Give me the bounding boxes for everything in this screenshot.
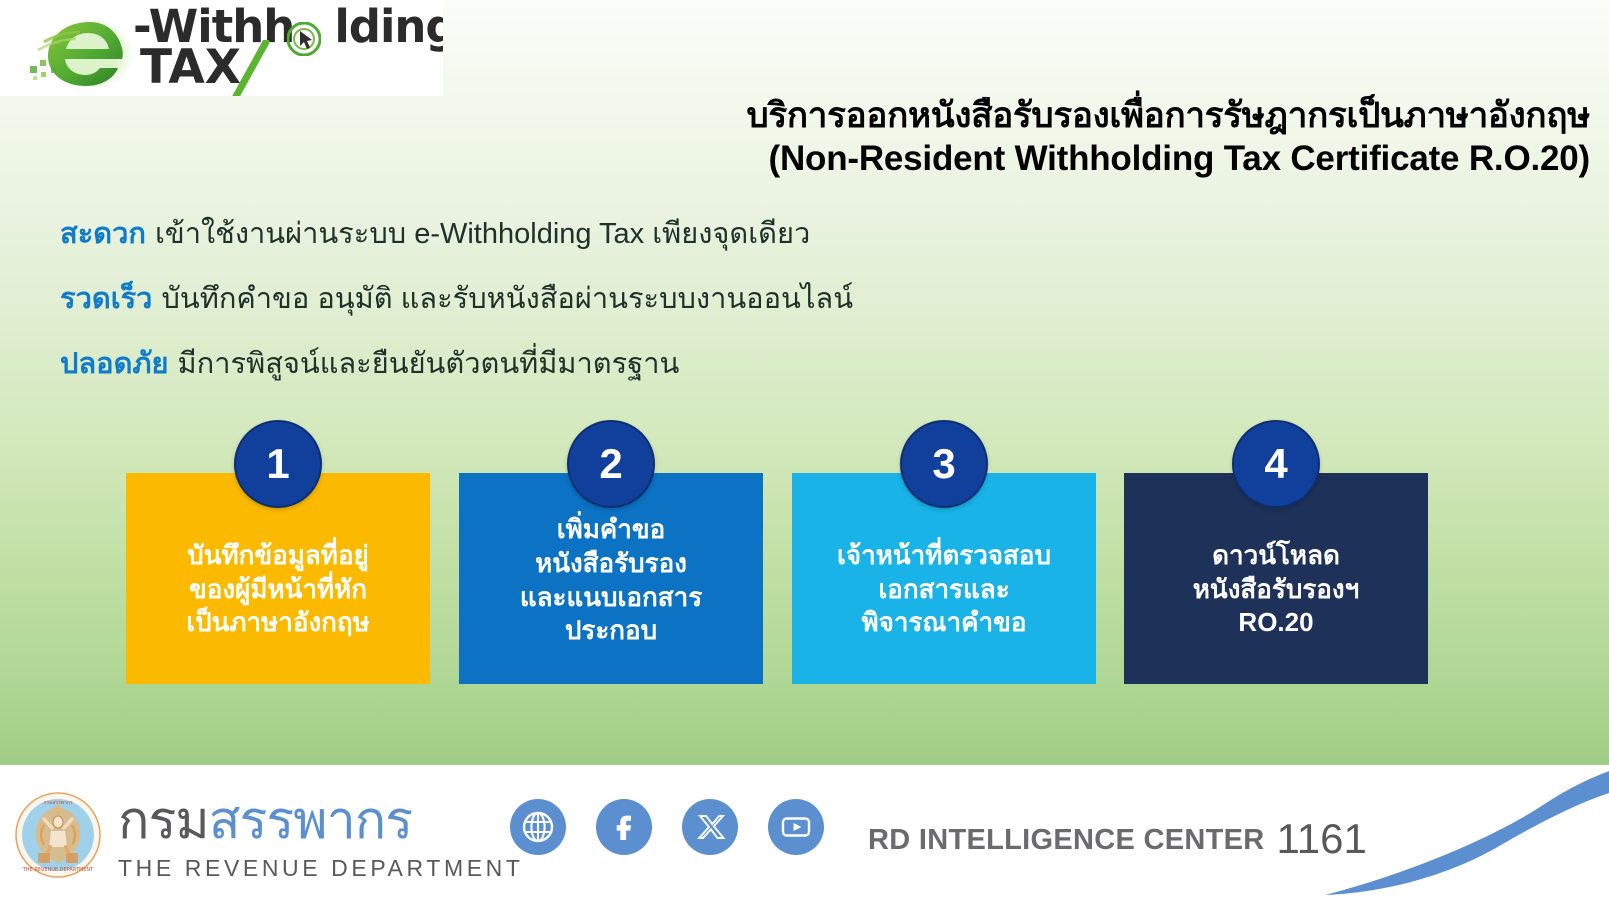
step-line: ของผู้มีหน้าที่หัก xyxy=(136,573,420,607)
benefit-item-1: สะดวกเข้าใช้งานผ่านระบบ e-Withholding Ta… xyxy=(60,216,1360,253)
step-card-2: 2 เพิ่มคำขอ หนังสือรับรอง และแนบเอกสาร ป… xyxy=(459,473,763,684)
revenue-department-seal-icon: กรมสรรพากร THE REVENUE DEPARTMENT xyxy=(14,791,102,879)
step-card-text: เจ้าหน้าที่ตรวจสอบ เอกสารและ พิจารณาคำขอ xyxy=(802,539,1086,640)
blue-swoosh-decoration xyxy=(1315,769,1609,901)
step-line: และแนบเอกสาร xyxy=(469,581,753,615)
title-thai: บริการออกหนังสือรับรองเพื่อการรัษฎากรเป็… xyxy=(400,96,1590,135)
step-line: เอกสารและ xyxy=(802,573,1086,607)
svg-text:THE REVENUE DEPARTMENT: THE REVENUE DEPARTMENT xyxy=(22,867,94,873)
step-card-text: บันทึกข้อมูลที่อยู่ ของผู้มีหน้าที่หัก เ… xyxy=(136,539,420,640)
step-line: บันทึกข้อมูลที่อยู่ xyxy=(136,539,420,573)
step-card-text: ดาวน์โหลด หนังสือรับรองฯ RO.20 xyxy=(1134,539,1418,640)
logo-lding: lding xyxy=(334,0,443,53)
facebook-icon[interactable] xyxy=(596,799,652,855)
agency-name-thai: กรมสรรพากร xyxy=(118,795,478,847)
step-line: RO.20 xyxy=(1134,606,1418,640)
facebook-f-icon xyxy=(606,809,642,845)
title-english: (Non-Resident Withholding Tax Certificat… xyxy=(400,139,1590,178)
x-twitter-icon[interactable] xyxy=(682,799,738,855)
benefit-text: บันทึกคำขอ อนุมัติ และรับหนังสือผ่านระบบ… xyxy=(161,283,853,315)
cursor-pointer-icon xyxy=(287,22,321,56)
step-line: หนังสือรับรองฯ xyxy=(1134,573,1418,607)
benefit-item-2: รวดเร็วบันทึกคำขอ อนุมัติ และรับหนังสือผ… xyxy=(60,281,1360,318)
step-line: หนังสือรับรอง xyxy=(469,547,753,581)
call-center-label: RD INTELLIGENCE CENTER xyxy=(868,824,1265,856)
step-card-3: 3 เจ้าหน้าที่ตรวจสอบ เอกสารและ พิจารณาคำ… xyxy=(792,473,1096,684)
youtube-icon[interactable] xyxy=(768,799,824,855)
benefit-item-3: ปลอดภัยมีการพิสูจน์และยืนยันตัวตนที่มีมา… xyxy=(60,346,1360,383)
revenue-department-wordmark: กรมสรรพากร THE REVENUE DEPARTMENT xyxy=(118,795,478,879)
benefit-text: มีการพิสูจน์และยืนยันตัวตนที่มีมาตรฐาน xyxy=(178,348,680,380)
step-line: ดาวน์โหลด xyxy=(1134,539,1418,573)
process-steps: 1 บันทึกข้อมูลที่อยู่ ของผู้มีหน้าที่หัก… xyxy=(0,420,1609,700)
youtube-play-icon xyxy=(777,808,815,846)
benefit-text: เข้าใช้งานผ่านระบบ e-Withholding Tax เพี… xyxy=(155,218,810,250)
step-number-badge: 1 xyxy=(234,420,322,508)
x-logo-icon xyxy=(694,811,726,843)
agency-name-english: THE REVENUE DEPARTMENT xyxy=(118,855,478,882)
website-icon[interactable] xyxy=(510,799,566,855)
call-center-info: RD INTELLIGENCE CENTER1161 xyxy=(868,815,1367,863)
svg-text:กรมสรรพากร: กรมสรรพากร xyxy=(43,800,73,806)
footer-bar: กรมสรรพากร THE REVENUE DEPARTMENT กรมสรร… xyxy=(0,765,1609,903)
step-number-badge: 4 xyxy=(1232,420,1320,508)
step-line: เพิ่มคำขอ xyxy=(469,513,753,547)
globe-icon xyxy=(520,809,556,845)
benefits-list: สะดวกเข้าใช้งานผ่านระบบ e-Withholding Ta… xyxy=(60,216,1360,411)
step-line: เจ้าหน้าที่ตรวจสอบ xyxy=(802,539,1086,573)
step-line: ประกอบ xyxy=(469,614,753,648)
benefit-keyword: ปลอดภัย xyxy=(60,348,169,380)
step-card-1: 1 บันทึกข้อมูลที่อยู่ ของผู้มีหน้าที่หัก… xyxy=(126,473,430,684)
benefit-keyword: รวดเร็ว xyxy=(60,283,152,315)
social-links xyxy=(510,799,824,855)
ewht-logo: -Withhlding TAX xyxy=(0,0,443,96)
page-title: บริการออกหนังสือรับรองเพื่อการรัษฎากรเป็… xyxy=(400,96,1590,178)
step-card-4: 4 ดาวน์โหลด หนังสือรับรองฯ RO.20 xyxy=(1124,473,1428,684)
step-line: พิจารณาคำขอ xyxy=(802,606,1086,640)
agency-name-thai-part2: สรรพากร xyxy=(209,792,413,850)
ewht-logo-block: -Withhlding TAX xyxy=(0,0,443,96)
benefit-keyword: สะดวก xyxy=(60,218,146,250)
step-number-badge: 2 xyxy=(567,420,655,508)
step-number-badge: 3 xyxy=(900,420,988,508)
poster-canvas: -Withhlding TAX บริการออกหนังสือรับรองเพ… xyxy=(0,0,1609,903)
agency-name-thai-part1: กรม xyxy=(118,792,209,850)
green-e-swirl-icon xyxy=(28,14,138,92)
step-line: เป็นภาษาอังกฤษ xyxy=(136,606,420,640)
step-card-text: เพิ่มคำขอ หนังสือรับรอง และแนบเอกสาร ประ… xyxy=(469,513,753,648)
green-x-stroke-icon xyxy=(222,40,282,96)
